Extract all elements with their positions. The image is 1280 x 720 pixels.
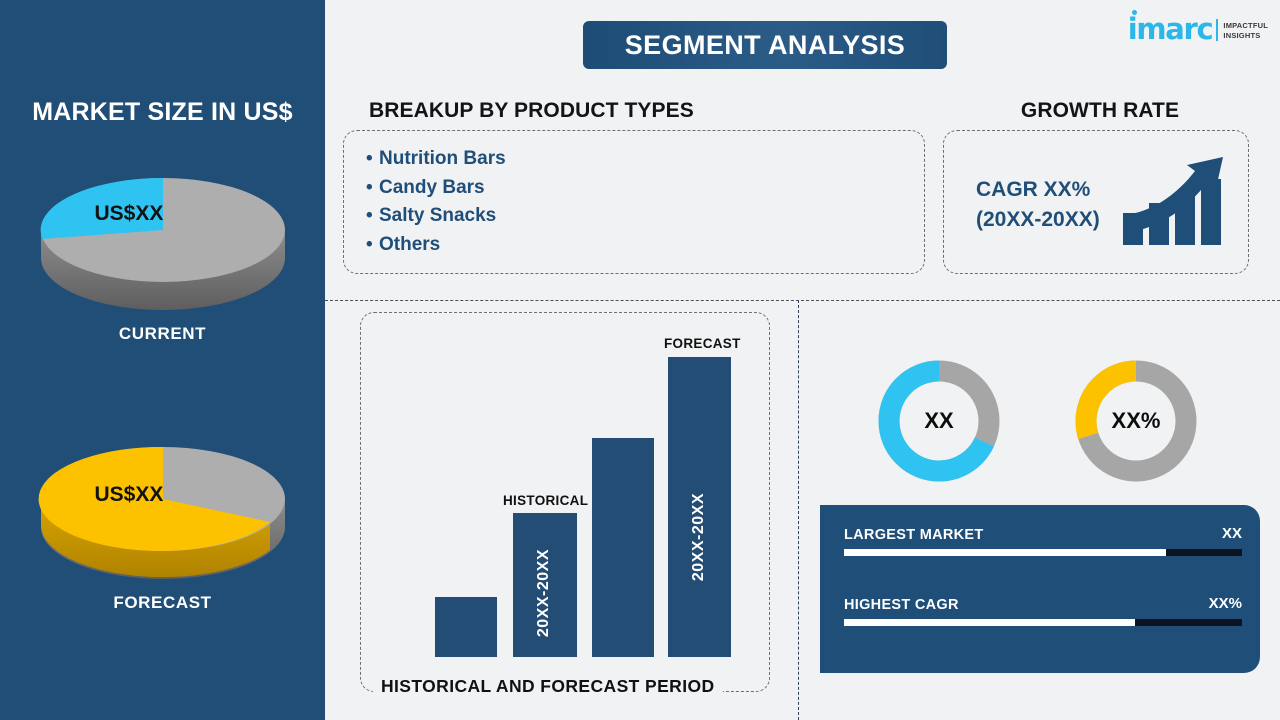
- forecast-pie-svg: [33, 437, 293, 587]
- bar-1: [435, 597, 497, 657]
- stat-label: LARGEST MARKET: [844, 527, 984, 543]
- list-item-label: Candy Bars: [379, 177, 485, 198]
- list-item: •Nutrition Bars: [366, 145, 506, 174]
- current-pie-caption: CURRENT: [0, 324, 325, 344]
- bar-2: 20XX-20XX: [513, 513, 577, 657]
- bar-4-label: 20XX-20XX: [690, 493, 708, 581]
- logo-divider: [1216, 19, 1218, 41]
- bar-3: [592, 438, 654, 657]
- breakup-heading: BREAKUP BY PRODUCT TYPES: [369, 99, 694, 123]
- page-title: SEGMENT ANALYSIS: [625, 30, 905, 61]
- current-pie-block: US$XX CURRENT: [0, 168, 325, 344]
- vertical-divider: [798, 300, 799, 720]
- list-item: •Salty Snacks: [366, 202, 506, 231]
- list-item: •Candy Bars: [366, 174, 506, 203]
- bullet-icon: •: [366, 231, 379, 260]
- bullet-icon: •: [366, 174, 379, 203]
- key-stats-panel: LARGEST MARKET XX HIGHEST CAGR XX%: [820, 505, 1260, 673]
- period-chart-caption: HISTORICAL AND FORECAST PERIOD: [373, 676, 723, 697]
- bullet-icon: •: [366, 145, 379, 174]
- forecast-pie-block: US$XX FORECAST: [0, 437, 325, 613]
- market-size-sidebar: MARKET SIZE IN US$: [0, 0, 325, 720]
- logo-wordmark: imarc: [1128, 15, 1213, 44]
- logo-dot-icon: [1132, 10, 1137, 15]
- current-pie-svg: [33, 168, 293, 318]
- historical-annotation: HISTORICAL: [503, 493, 588, 508]
- infographic-root: MARKET SIZE IN US$: [0, 0, 1280, 720]
- period-bar-chart-box: 20XX-20XX 20XX-20XX HISTORICAL FORECAST: [360, 312, 770, 692]
- stat-track: [844, 549, 1242, 556]
- bar-4: 20XX-20XX: [668, 357, 731, 657]
- logo-word: imarc: [1128, 15, 1213, 44]
- donut-chart-2: XX%: [1073, 358, 1199, 484]
- current-pie-chart: US$XX: [33, 168, 293, 318]
- logo-tagline: IMPACTFUL INSIGHTS: [1223, 21, 1268, 40]
- stat-label: HIGHEST CAGR: [844, 597, 959, 613]
- donut-chart-1: XX: [876, 358, 1002, 484]
- stat-track: [844, 619, 1242, 626]
- bullet-icon: •: [366, 202, 379, 231]
- cagr-text: CAGR XX% (20XX-20XX): [976, 175, 1100, 235]
- main-area: SEGMENT ANALYSIS imarc IMPACTFUL INSIGHT…: [325, 0, 1280, 720]
- cagr-line1: CAGR XX%: [976, 175, 1100, 205]
- forecast-pie-chart: US$XX: [33, 437, 293, 587]
- page-title-badge: SEGMENT ANALYSIS: [583, 21, 947, 69]
- list-item-label: Salty Snacks: [379, 205, 496, 226]
- sidebar-title: MARKET SIZE IN US$: [0, 98, 325, 127]
- imarc-logo: imarc IMPACTFUL INSIGHTS: [1128, 12, 1268, 44]
- list-item-label: Nutrition Bars: [379, 148, 506, 169]
- bar-2-label: 20XX-20XX: [535, 549, 553, 637]
- logo-tagline-line1: IMPACTFUL: [1223, 21, 1268, 30]
- breakup-list: •Nutrition Bars •Candy Bars •Salty Snack…: [344, 131, 506, 259]
- forecast-annotation: FORECAST: [664, 336, 741, 351]
- stat-value: XX: [1222, 525, 1242, 542]
- growth-arrow-bars-icon: [1119, 153, 1231, 253]
- cagr-line2: (20XX-20XX): [976, 205, 1100, 235]
- list-item: •Others: [366, 231, 506, 260]
- donut-1-label: XX: [876, 408, 1002, 434]
- stat-fill: [844, 619, 1135, 626]
- list-item-label: Others: [379, 234, 440, 255]
- stat-value: XX%: [1209, 595, 1242, 612]
- growth-rate-box: CAGR XX% (20XX-20XX): [943, 130, 1249, 274]
- horizontal-divider: [325, 300, 1280, 301]
- breakup-box: •Nutrition Bars •Candy Bars •Salty Snack…: [343, 130, 925, 274]
- stat-fill: [844, 549, 1166, 556]
- forecast-pie-caption: FORECAST: [0, 593, 325, 613]
- donut-2-label: XX%: [1073, 408, 1199, 434]
- logo-tagline-line2: INSIGHTS: [1223, 31, 1268, 40]
- growth-rate-heading: GROWTH RATE: [945, 99, 1255, 123]
